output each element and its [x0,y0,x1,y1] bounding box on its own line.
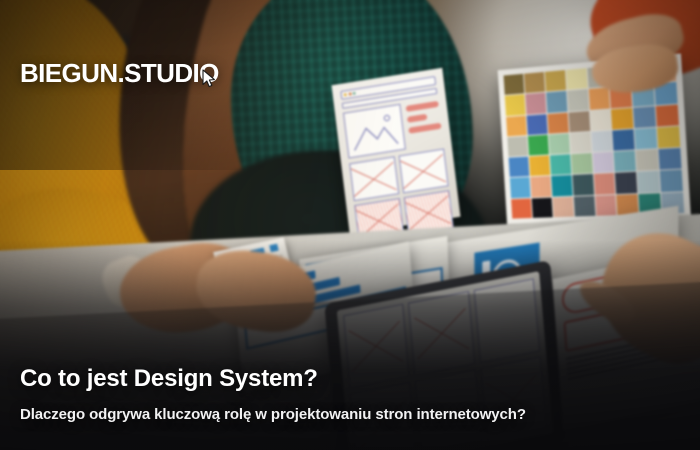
headline-block: Co to jest Design System? Dlaczego odgry… [20,366,680,424]
page-subtitle: Dlaczego odgrywa kluczową rolę w projekt… [20,406,680,424]
brand-logo-text: BIEGUN.STUDIO [20,60,219,86]
brand-logo[interactable]: BIEGUN.STUDIO [20,60,219,86]
banner-graphic: BIEGUN.STUDIO Co to jest Design System? … [0,0,700,450]
page-title: Co to jest Design System? [20,366,680,392]
